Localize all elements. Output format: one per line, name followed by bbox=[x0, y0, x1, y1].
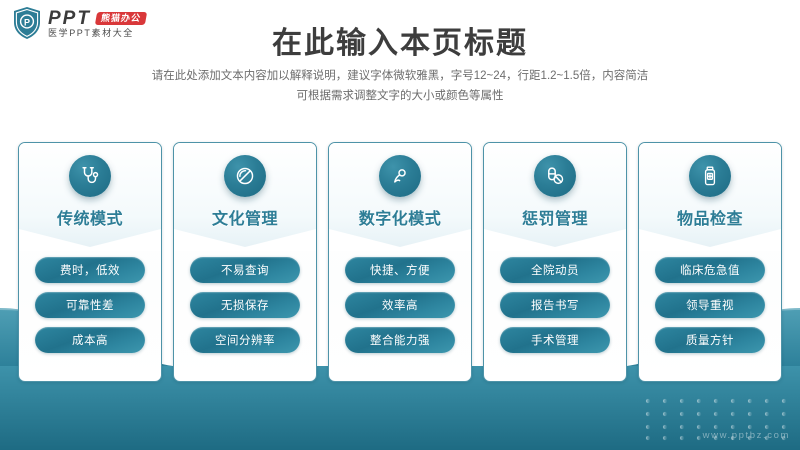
card-chevron-divider bbox=[19, 229, 161, 251]
stethoscope-icon bbox=[69, 155, 111, 197]
site-watermark: www.pptbz.com bbox=[703, 430, 790, 441]
pill-item[interactable]: 不易查询 bbox=[190, 257, 300, 283]
pill-item[interactable]: 无损保存 bbox=[190, 292, 300, 318]
page-title: 在此输入本页标题 bbox=[0, 18, 800, 62]
pill-item[interactable]: 全院动员 bbox=[500, 257, 610, 283]
page-subtitle: 请在此处添加文本内容加以解释说明，建议字体微软雅黑，字号12~24，行距1.2~… bbox=[0, 66, 800, 106]
subtitle-line-1: 请在此处添加文本内容加以解释说明，建议字体微软雅黑，字号12~24，行距1.2~… bbox=[0, 66, 800, 86]
capsule-icon bbox=[224, 155, 266, 197]
pill-item[interactable]: 费时，低效 bbox=[35, 257, 145, 283]
pill-item[interactable]: 质量方针 bbox=[655, 327, 765, 353]
pill-item[interactable]: 效率高 bbox=[345, 292, 455, 318]
card-chevron-divider bbox=[174, 229, 316, 251]
card-chevron-divider bbox=[639, 229, 781, 251]
card-row: 传统模式 费时，低效 可靠性差 成本高 bbox=[18, 142, 782, 382]
card-title: 传统模式 bbox=[19, 205, 161, 229]
pill-item[interactable]: 空间分辨率 bbox=[190, 327, 300, 353]
pill-item[interactable]: 手术管理 bbox=[500, 327, 610, 353]
card-traditional-mode[interactable]: 传统模式 费时，低效 可靠性差 成本高 bbox=[18, 142, 162, 382]
card-punishment-management[interactable]: 惩罚管理 全院动员 报告书写 手术管理 bbox=[483, 142, 627, 382]
subtitle-line-2: 可根据需求调整文字的大小或颜色等属性 bbox=[0, 86, 800, 106]
card-title: 文化管理 bbox=[174, 205, 316, 229]
card-pill-list: 临床危急值 领导重视 质量方针 bbox=[639, 257, 781, 353]
pill-item[interactable]: 整合能力强 bbox=[345, 327, 455, 353]
sperm-cell-icon bbox=[379, 155, 421, 197]
pill-item[interactable]: 可靠性差 bbox=[35, 292, 145, 318]
pill-item[interactable]: 领导重视 bbox=[655, 292, 765, 318]
card-culture-management[interactable]: 文化管理 不易查询 无损保存 空间分辨率 bbox=[173, 142, 317, 382]
card-pill-list: 费时，低效 可靠性差 成本高 bbox=[19, 257, 161, 353]
pills-icon bbox=[534, 155, 576, 197]
pill-item[interactable]: 临床危急值 bbox=[655, 257, 765, 283]
card-chevron-divider bbox=[484, 229, 626, 251]
pill-item[interactable]: 快捷、方便 bbox=[345, 257, 455, 283]
pill-item[interactable]: 成本高 bbox=[35, 327, 145, 353]
card-title: 数字化模式 bbox=[329, 205, 471, 229]
card-title: 物品检查 bbox=[639, 205, 781, 229]
card-pill-list: 不易查询 无损保存 空间分辨率 bbox=[174, 257, 316, 353]
card-item-inspection[interactable]: 物品检查 临床危急值 领导重视 质量方针 bbox=[638, 142, 782, 382]
card-pill-list: 快捷、方便 效率高 整合能力强 bbox=[329, 257, 471, 353]
card-chevron-divider bbox=[329, 229, 471, 251]
medicine-bottle-icon bbox=[689, 155, 731, 197]
pill-item[interactable]: 报告书写 bbox=[500, 292, 610, 318]
card-pill-list: 全院动员 报告书写 手术管理 bbox=[484, 257, 626, 353]
card-digital-mode[interactable]: 数字化模式 快捷、方便 效率高 整合能力强 bbox=[328, 142, 472, 382]
slide-canvas: P PPT 熊猫办公 医学PPT素材大全 在此输入本页标题 请在此处添加文本内容… bbox=[0, 0, 800, 450]
card-title: 惩罚管理 bbox=[484, 205, 626, 229]
